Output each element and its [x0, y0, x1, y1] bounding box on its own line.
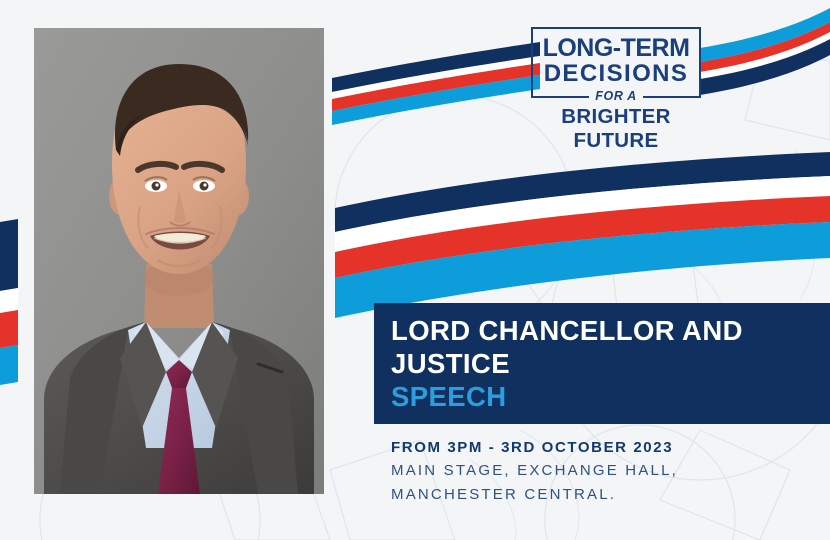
logo-connector: FOR A [589, 89, 642, 103]
title-line-2: JUSTICE [391, 347, 830, 380]
title-line-3: SPEECH [391, 380, 830, 413]
event-time: FROM 3PM - 3RD OCTOBER 2023 [391, 437, 678, 459]
portrait-photo [34, 28, 324, 494]
event-venue-line-2: MANCHESTER CENTRAL. [391, 483, 678, 507]
ribbon-main [335, 152, 830, 318]
campaign-logo: LONG-TERM DECISIONS FOR A BRIGHTER FUTUR… [531, 27, 701, 153]
poster-canvas: LORD CHANCELLOR AND JUSTICE SPEECH FROM … [0, 0, 830, 540]
event-venue-line-1: MAIN STAGE, EXCHANGE HALL, [391, 459, 678, 483]
logo-line-1: LONG-TERM [541, 36, 691, 61]
portrait-illustration [34, 28, 324, 494]
logo-line-3: BRIGHTER FUTURE [531, 105, 701, 153]
title-line-1: LORD CHANCELLOR AND [391, 314, 830, 347]
ribbon-top-right [700, 8, 830, 95]
ribbon-left-edge [0, 219, 18, 385]
logo-connector-row: FOR A [531, 89, 701, 103]
ribbon-top-left [332, 42, 540, 125]
event-title-box: LORD CHANCELLOR AND JUSTICE SPEECH [374, 303, 830, 424]
logo-line-2: DECISIONS [541, 61, 691, 87]
logo-outline-box: LONG-TERM DECISIONS [531, 27, 701, 98]
event-details: FROM 3PM - 3RD OCTOBER 2023 MAIN STAGE, … [391, 437, 678, 507]
